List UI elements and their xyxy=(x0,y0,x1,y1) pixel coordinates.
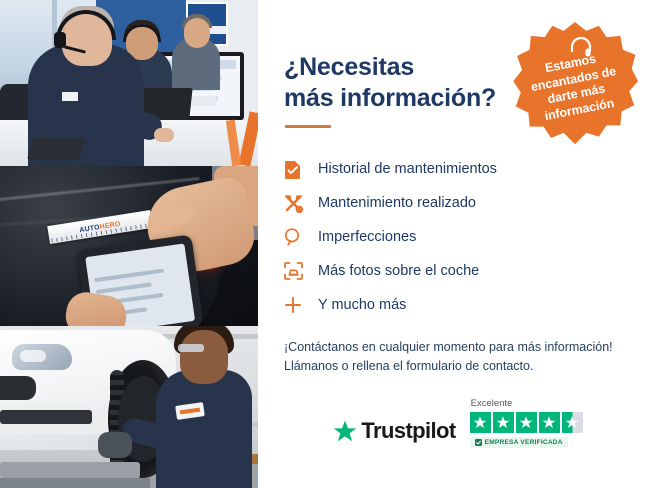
star-icon xyxy=(516,412,537,433)
desk-tablet xyxy=(27,138,85,160)
mechanic-wheel-photo xyxy=(0,326,258,488)
trustpilot-rating[interactable]: Trustpilot Excelente xyxy=(284,398,632,448)
trustpilot-score-block: Excelente xyxy=(470,398,583,448)
page-title: ¿Necesitas más información? xyxy=(284,52,499,113)
headlight xyxy=(12,344,72,370)
trustpilot-rating-label: Excelente xyxy=(471,398,513,409)
list-item: Y mucho más xyxy=(284,288,624,322)
verified-business-badge: EMPRESA VERIFICADA xyxy=(470,437,568,448)
star-rating xyxy=(470,412,583,433)
check-badge-icon xyxy=(475,439,482,446)
grille xyxy=(0,376,36,400)
list-item: Imperfecciones xyxy=(284,220,624,254)
star-icon xyxy=(470,412,491,433)
car-lift-arm xyxy=(0,462,140,478)
bumper-vent xyxy=(0,410,92,424)
verified-label: EMPRESA VERIFICADA xyxy=(485,439,563,446)
call-center-agents-photo xyxy=(0,0,258,166)
star-icon xyxy=(493,412,514,433)
list-item: Más fotos sobre el coche xyxy=(284,254,624,288)
content-panel: ¿Necesitas más información? Estamos enca… xyxy=(258,0,650,488)
list-item: Mantenimiento realizado xyxy=(284,186,624,220)
trustpilot-logo[interactable]: Trustpilot xyxy=(333,418,455,448)
car-inspection-ruler-photo: AUTOHERO xyxy=(0,166,258,326)
feature-label: Imperfecciones xyxy=(318,229,416,245)
trustpilot-wordmark: Trustpilot xyxy=(361,418,455,444)
feature-label: Más fotos sobre el coche xyxy=(318,263,479,279)
photo-column: AUTOHERO xyxy=(0,0,258,488)
contact-line-2: Llámanos o rellena el formulario de cont… xyxy=(284,357,624,376)
car-lift-base xyxy=(0,478,150,488)
information-promo-card: AUTOHERO xyxy=(0,0,650,488)
headline-line-1: ¿Necesitas xyxy=(284,53,414,81)
feature-label: Y mucho más xyxy=(318,297,406,313)
contact-text: ¡Contáctanos en cualquier momento para m… xyxy=(284,338,624,377)
trustpilot-star-icon xyxy=(333,420,357,443)
autohero-ruler-label: AUTOHERO xyxy=(79,220,121,233)
promo-badge: Estamos encantados de darte más informac… xyxy=(512,22,638,148)
plus-icon xyxy=(284,296,318,314)
feature-label: Historial de mantenimientos xyxy=(318,161,497,177)
document-check-icon xyxy=(284,160,318,179)
contact-line-1: ¡Contáctanos en cualquier momento para m… xyxy=(284,338,624,357)
magnifier-icon xyxy=(284,228,318,246)
star-icon xyxy=(539,412,560,433)
feature-list: Historial de mantenimientos Mantenimient… xyxy=(284,152,624,322)
headline-line-2: más información? xyxy=(284,84,496,112)
star-icon-half xyxy=(562,412,583,433)
title-underline xyxy=(285,125,331,128)
tools-cross-icon xyxy=(284,194,318,213)
feature-label: Mantenimiento realizado xyxy=(318,195,476,211)
list-item: Historial de mantenimientos xyxy=(284,152,624,186)
mechanic xyxy=(156,370,252,488)
car-frame-icon xyxy=(284,262,318,280)
background-person xyxy=(172,38,220,90)
